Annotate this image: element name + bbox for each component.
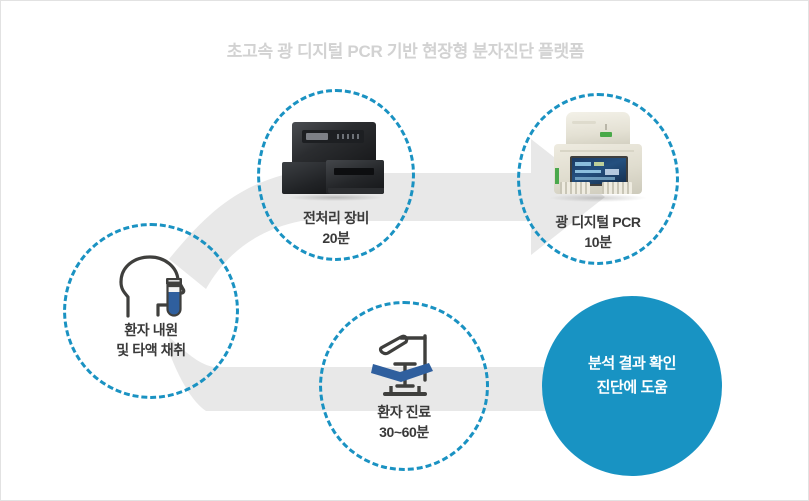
node-analysis-result-line2: 진단에 도움 bbox=[588, 376, 676, 400]
node-optical-digital-pcr[interactable]: 광 디지털 PCR 10분 bbox=[517, 93, 679, 265]
node-analysis-result[interactable]: 분석 결과 확인 진단에 도움 bbox=[542, 296, 722, 476]
node-preprocessing-device[interactable]: 전처리 장비 20분 bbox=[257, 89, 415, 261]
node-preprocessing-device-line2: 20분 bbox=[303, 228, 369, 248]
node-patient-care-line1: 환자 진료 bbox=[377, 402, 430, 422]
node-patient-visit-line1: 환자 내원 bbox=[116, 320, 185, 340]
node-patient-care-label: 환자 진료 30~60분 bbox=[377, 402, 430, 443]
node-patient-visit-label: 환자 내원 및 타액 채취 bbox=[116, 320, 185, 361]
preprocessing-device-photo bbox=[282, 114, 390, 204]
node-analysis-result-line1: 분석 결과 확인 bbox=[588, 352, 676, 376]
node-analysis-result-label: 분석 결과 확인 진단에 도움 bbox=[588, 352, 676, 400]
node-preprocessing-device-line1: 전처리 장비 bbox=[303, 208, 369, 228]
diagram-canvas: 초고속 광 디지털 PCR 기반 현장형 분자진단 플랫폼 환자 내원 및 타액 bbox=[0, 0, 809, 501]
node-patient-visit[interactable]: 환자 내원 및 타액 채취 bbox=[63, 223, 239, 399]
optical-digital-pcr-device-photo bbox=[546, 112, 650, 208]
node-optical-digital-pcr-line2: 10분 bbox=[555, 232, 640, 252]
head-profile-with-test-tube-icon bbox=[103, 252, 199, 320]
node-optical-digital-pcr-line1: 광 디지털 PCR bbox=[555, 212, 640, 232]
node-patient-care-line2: 30~60분 bbox=[377, 422, 430, 442]
dental-chair-icon bbox=[367, 330, 441, 402]
node-preprocessing-device-label: 전처리 장비 20분 bbox=[303, 208, 369, 249]
node-patient-care[interactable]: 환자 진료 30~60분 bbox=[319, 301, 489, 471]
node-patient-visit-line2: 및 타액 채취 bbox=[116, 340, 185, 360]
node-optical-digital-pcr-label: 광 디지털 PCR 10분 bbox=[555, 212, 640, 253]
